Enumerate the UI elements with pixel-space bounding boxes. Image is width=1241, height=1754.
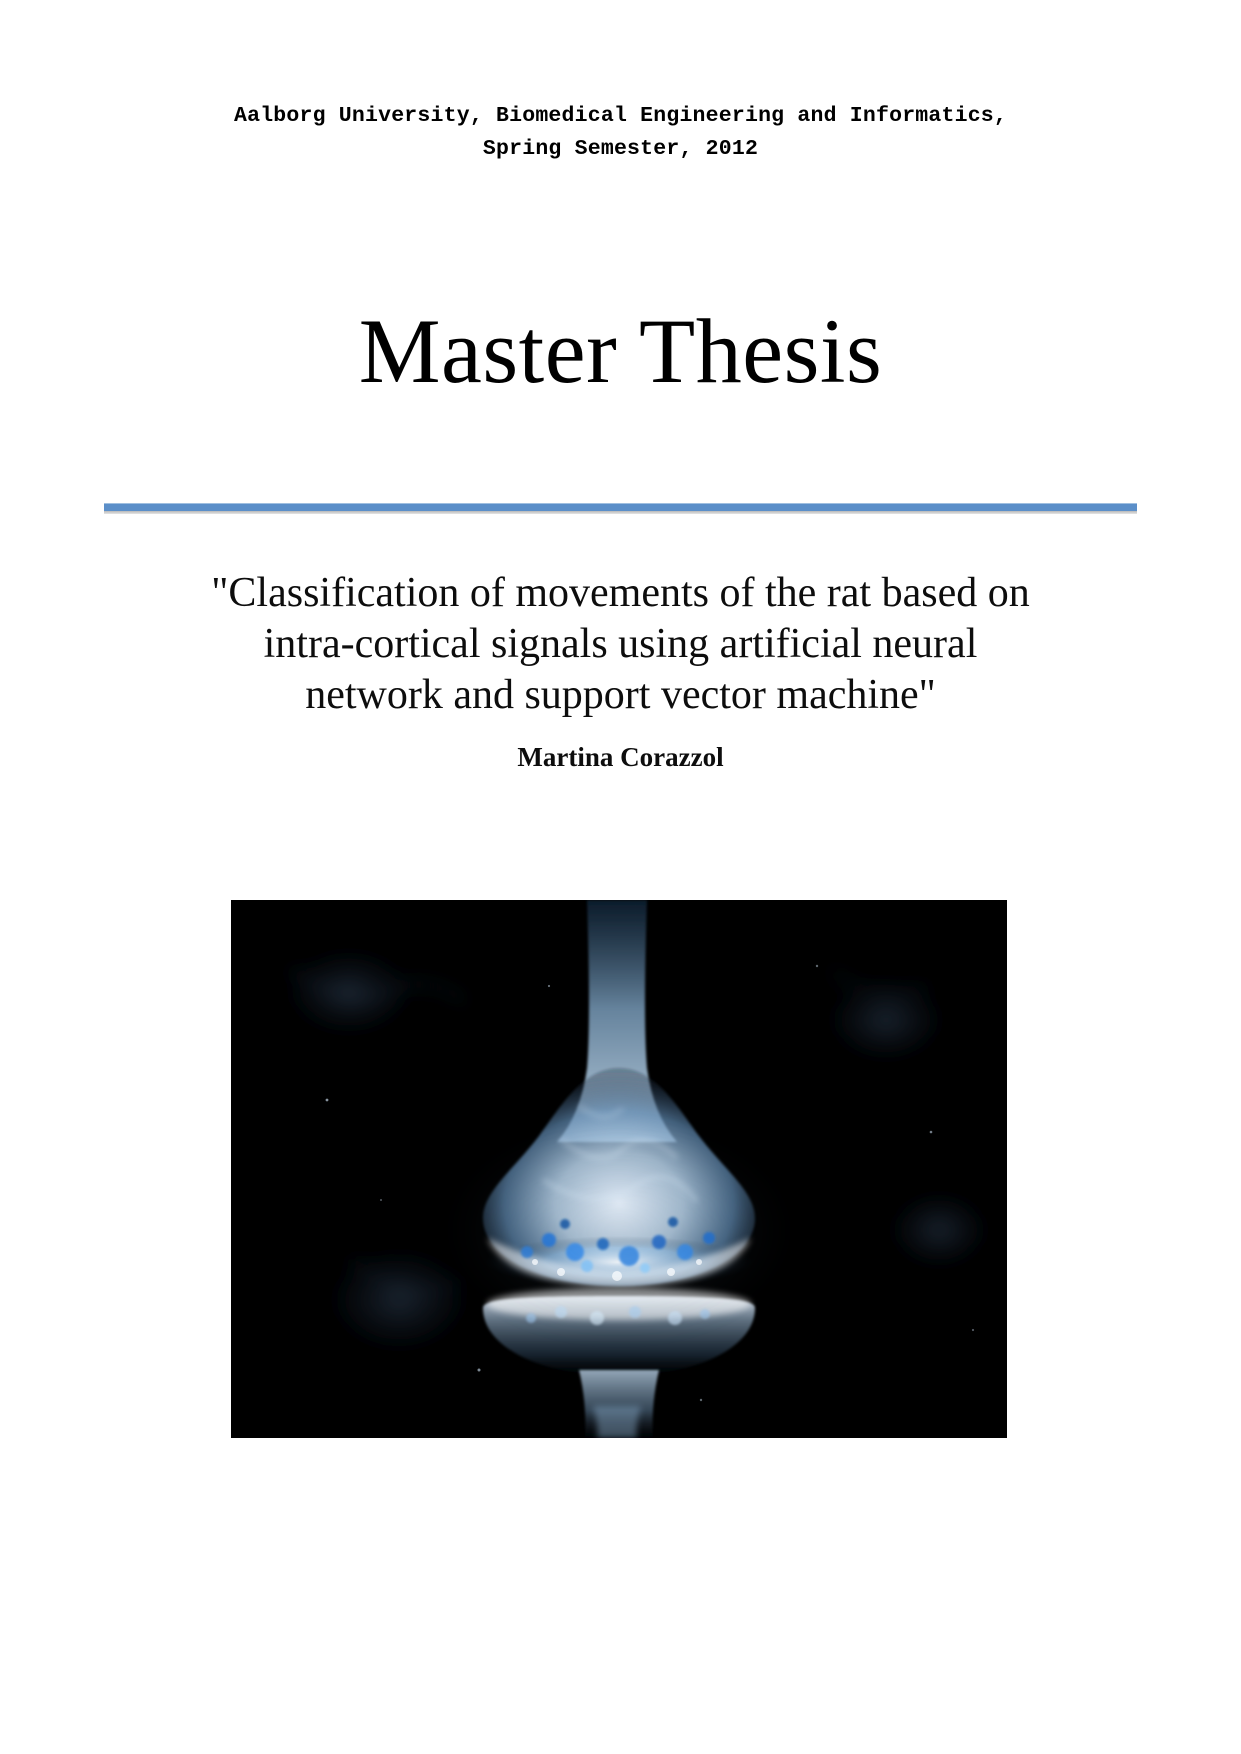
- title-divider-rule: [104, 503, 1137, 511]
- figure-ambient-glow: [429, 1110, 809, 1350]
- neuron-illustration-icon: [231, 900, 1007, 1438]
- title-divider-shadow: [104, 511, 1137, 514]
- thesis-subtitle-line-2: intra-cortical signals using artificial …: [140, 619, 1101, 670]
- department-header-line-2: Spring Semester, 2012: [0, 133, 1241, 166]
- reflected-axon-tail: [593, 1406, 641, 1438]
- thesis-subtitle-line-3: network and support vector machine": [140, 670, 1101, 721]
- thesis-subtitle: "Classification of movements of the rat …: [140, 568, 1101, 722]
- department-header: Aalborg University, Biomedical Engineeri…: [0, 100, 1241, 167]
- cover-page: Aalborg University, Biomedical Engineeri…: [0, 0, 1241, 1754]
- cover-figure: [231, 900, 1007, 1438]
- author-name: Martina Corazzol: [0, 742, 1241, 773]
- department-header-line-1: Aalborg University, Biomedical Engineeri…: [234, 104, 1007, 128]
- title-divider: [104, 503, 1137, 513]
- thesis-subtitle-line-1: "Classification of movements of the rat …: [140, 568, 1101, 619]
- page-title: Master Thesis: [0, 300, 1241, 403]
